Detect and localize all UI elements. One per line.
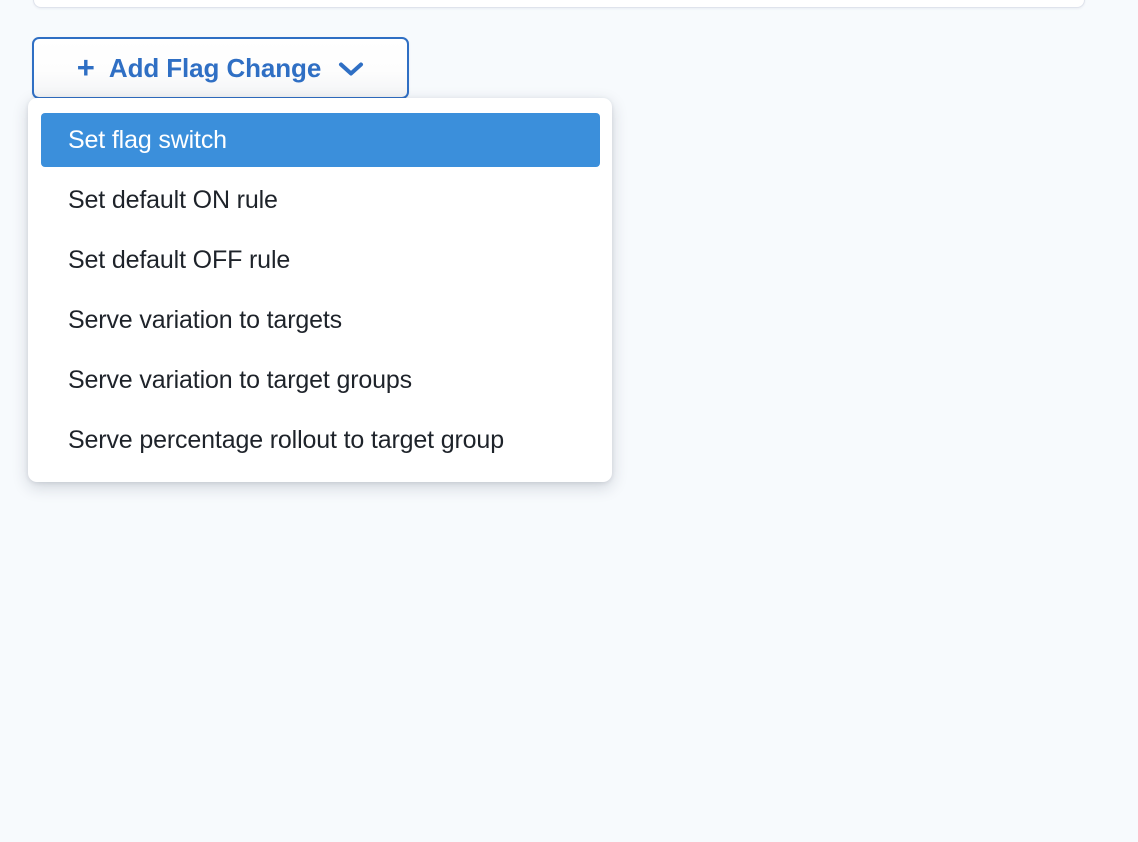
- chevron-down-icon: [338, 61, 364, 77]
- partially-visible-panel: [33, 0, 1085, 8]
- menu-item-label: Serve variation to targets: [68, 306, 342, 335]
- menu-item-set-flag-switch[interactable]: Set flag switch: [41, 113, 600, 167]
- menu-item-label: Set flag switch: [68, 126, 227, 155]
- menu-item-label: Set default ON rule: [68, 186, 278, 215]
- menu-item-set-default-off-rule[interactable]: Set default OFF rule: [41, 233, 600, 287]
- menu-item-label: Serve percentage rollout to target group: [68, 426, 504, 455]
- menu-item-label: Serve variation to target groups: [68, 366, 412, 395]
- add-flag-change-button[interactable]: + Add Flag Change: [32, 37, 409, 99]
- menu-item-label: Set default OFF rule: [68, 246, 290, 275]
- menu-item-serve-variation-to-target-groups[interactable]: Serve variation to target groups: [41, 353, 600, 407]
- menu-item-serve-percentage-rollout-to-target-group[interactable]: Serve percentage rollout to target group: [41, 413, 600, 467]
- add-flag-change-menu[interactable]: Set flag switch Set default ON rule Set …: [28, 98, 612, 482]
- menu-item-set-default-on-rule[interactable]: Set default ON rule: [41, 173, 600, 227]
- menu-item-serve-variation-to-targets[interactable]: Serve variation to targets: [41, 293, 600, 347]
- plus-icon: +: [77, 52, 95, 83]
- add-flag-change-label: Add Flag Change: [109, 55, 321, 81]
